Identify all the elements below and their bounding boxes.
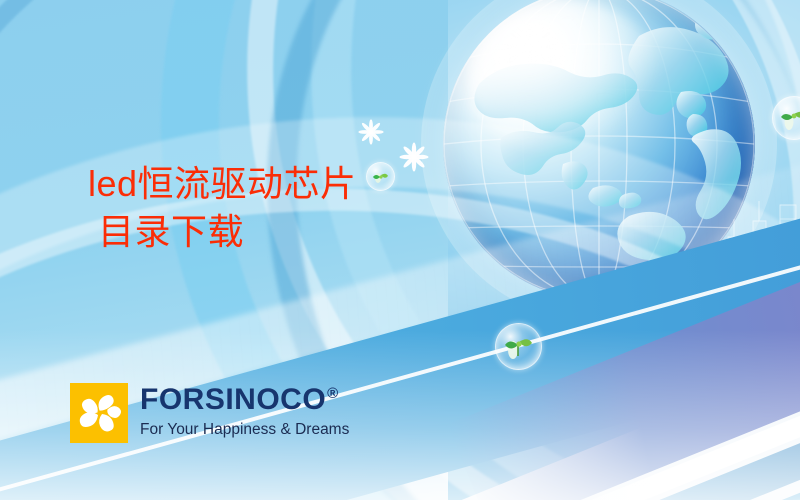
brand-logo: FORSINOCO ® For Your Happiness & Dreams: [70, 383, 349, 443]
bubble-with-sprout-icon: [772, 96, 800, 140]
white-flower-icon: [358, 119, 384, 145]
poster-canvas: led恒流驱动芯片 目录下载 FORSINOCO ® For Your Happ…: [0, 0, 800, 500]
logo-text-block: FORSINOCO ® For Your Happiness & Dreams: [140, 383, 349, 438]
headline-line-2: 目录下载: [0, 208, 420, 256]
four-petal-pinwheel-icon: [70, 383, 128, 443]
logo-wordmark: FORSINOCO ®: [140, 385, 349, 415]
logo-tagline: For Your Happiness & Dreams: [140, 422, 349, 438]
registered-trademark-icon: ®: [327, 386, 339, 401]
headline-line-1: led恒流驱动芯片: [0, 160, 420, 208]
logo-wordmark-text: FORSINOCO: [140, 385, 326, 415]
page-title: led恒流驱动芯片 目录下载: [0, 160, 420, 256]
bubble-with-sprout-icon: [495, 323, 542, 370]
